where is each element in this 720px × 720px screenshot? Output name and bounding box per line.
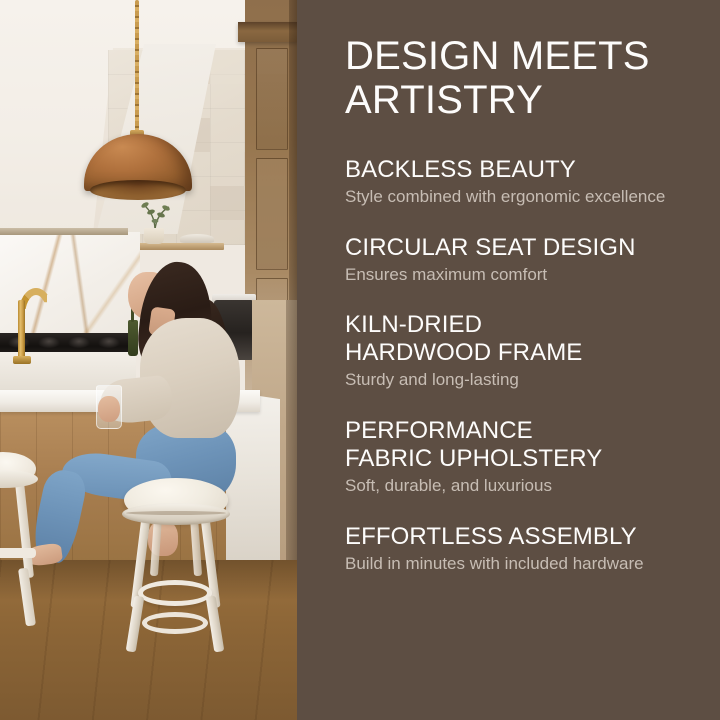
feature-description: Soft, durable, and luxurious [345,475,690,497]
feature-text-panel: DESIGN MEETS ARTISTRY BACKLESS BEAUTY St… [297,0,720,720]
stool-seat-groove [126,511,226,515]
cabinet-door-panel [256,48,288,150]
hood-trim [0,228,128,235]
tile-accent [210,50,244,84]
feature-item-kiln-dried-hardwood-frame: KILN-DRIED HARDWOOD FRAME Sturdy and lon… [345,311,690,391]
faucet-base [13,356,31,364]
feature-item-effortless-assembly: EFFORTLESS ASSEMBLY Build in minutes wit… [345,523,690,575]
feature-description: Sturdy and long-lasting [345,369,690,391]
stove-burner [38,337,60,348]
wine-bottle [128,320,138,356]
stove-burner [98,337,120,348]
feature-title: KILN-DRIED HARDWOOD FRAME [345,311,690,367]
model-hand [98,396,120,422]
feature-item-circular-seat-design: CIRCULAR SEAT DESIGN Ensures maximum com… [345,234,690,286]
lifestyle-photo [0,0,297,720]
page-title: DESIGN MEETS ARTISTRY [345,34,690,122]
gold-faucet [18,300,25,362]
second-stool-footrest [0,548,36,558]
product-feature-infographic: DESIGN MEETS ARTISTRY BACKLESS BEAUTY St… [0,0,720,720]
feature-description: Build in minutes with included hardware [345,553,690,575]
feature-description: Style combined with ergonomic excellence [345,186,690,208]
feature-title: BACKLESS BEAUTY [345,156,690,184]
feature-list: BACKLESS BEAUTY Style combined with ergo… [345,156,690,574]
feature-item-performance-fabric-upholstery: PERFORMANCE FABRIC UPHOLSTERY Soft, dura… [345,417,690,497]
feature-item-backless-beauty: BACKLESS BEAUTY Style combined with ergo… [345,156,690,208]
stove-burner [68,337,90,348]
feature-title: CIRCULAR SEAT DESIGN [345,234,690,262]
stacked-dishes [180,234,214,243]
pendant-chain [135,0,139,138]
floating-shelf [134,243,224,250]
cabinet-door-panel [256,158,288,270]
plant-pot [144,228,164,244]
feature-title: EFFORTLESS ASSEMBLY [345,523,690,551]
feature-title: PERFORMANCE FABRIC UPHOLSTERY [345,417,690,473]
stool-lower-ring [142,612,208,634]
tile-accent [210,186,244,220]
stool-footrest-ring [138,580,212,606]
plant-icon [138,196,172,230]
feature-description: Ensures maximum comfort [345,264,690,286]
